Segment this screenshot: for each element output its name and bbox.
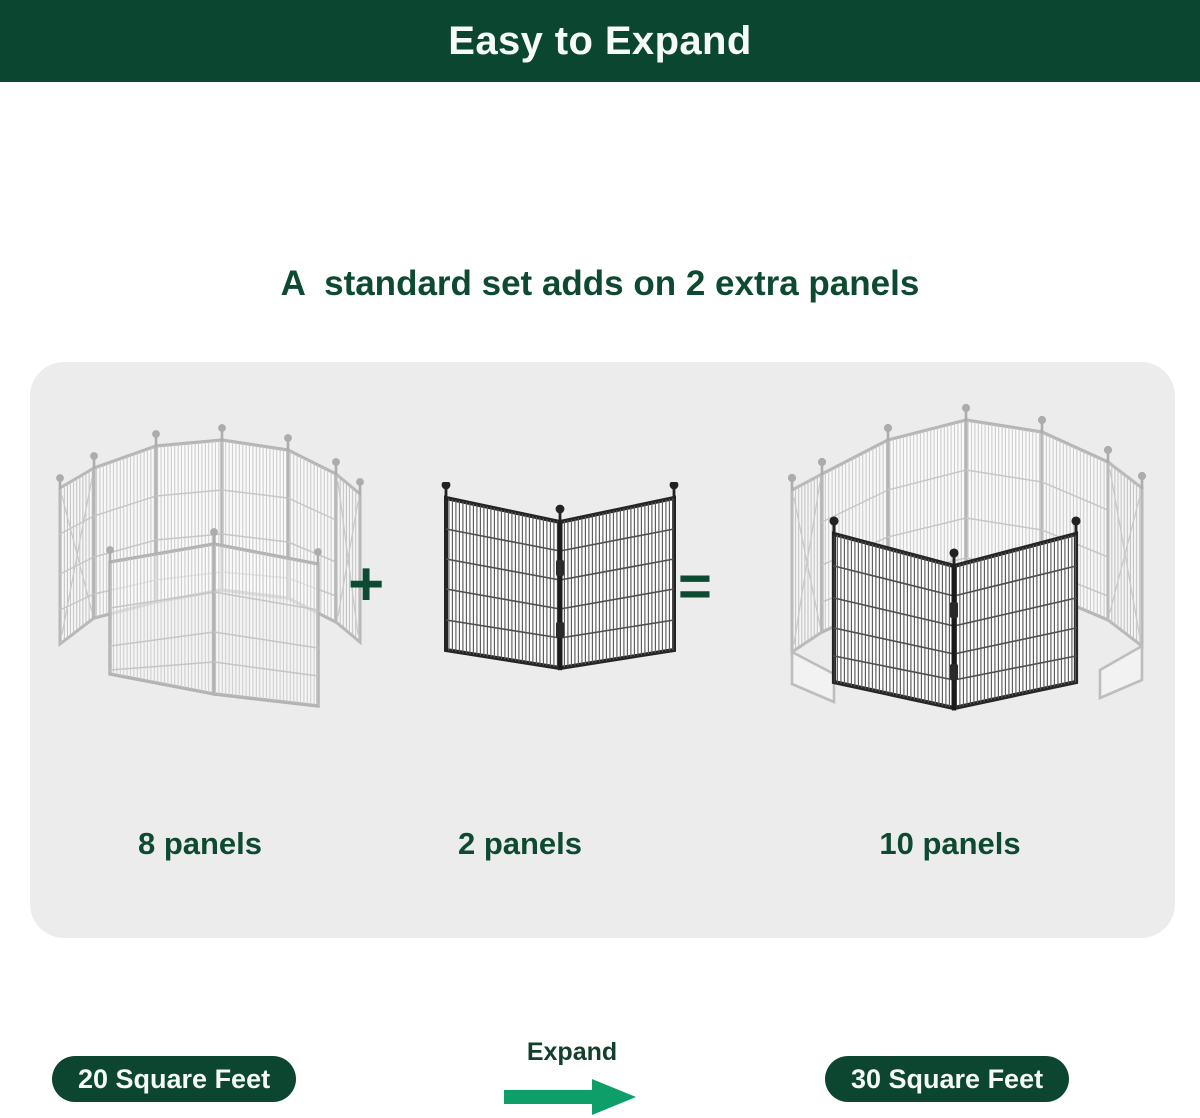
expand-label: Expand: [502, 1040, 642, 1065]
playpen-8-panel-icon: [48, 422, 378, 712]
subtitle-line-1: A standard set adds on 2 extra panels: [0, 261, 1200, 308]
figure-expanded-playpen: [770, 402, 1170, 742]
playpen-10-panel-icon: [770, 402, 1170, 742]
figure-extra-panels: [420, 482, 710, 682]
header-bar: Easy to Expand: [0, 0, 1200, 82]
figure-row: +: [30, 362, 1175, 938]
page-title: Easy to Expand: [448, 21, 751, 61]
arrow-right-icon: [500, 1077, 640, 1117]
operator-plus: +: [348, 554, 384, 616]
label-2-panels: 2 panels: [390, 828, 650, 859]
infographic-page: Easy to Expand A standard set adds on 2 …: [0, 0, 1200, 1118]
label-10-panels: 10 panels: [810, 828, 1090, 859]
operator-equals: =: [678, 558, 712, 616]
illustration-card: +: [30, 362, 1175, 938]
label-8-panels: 8 panels: [70, 828, 330, 859]
expand-indicator: Expand: [500, 1040, 675, 1118]
figure-base-playpen: [48, 422, 378, 712]
playpen-2-panel-icon: [420, 482, 710, 682]
status-badge-area-after: 30 Square Feet: [825, 1056, 1069, 1102]
status-badge-area-before: 20 Square Feet: [52, 1056, 296, 1102]
